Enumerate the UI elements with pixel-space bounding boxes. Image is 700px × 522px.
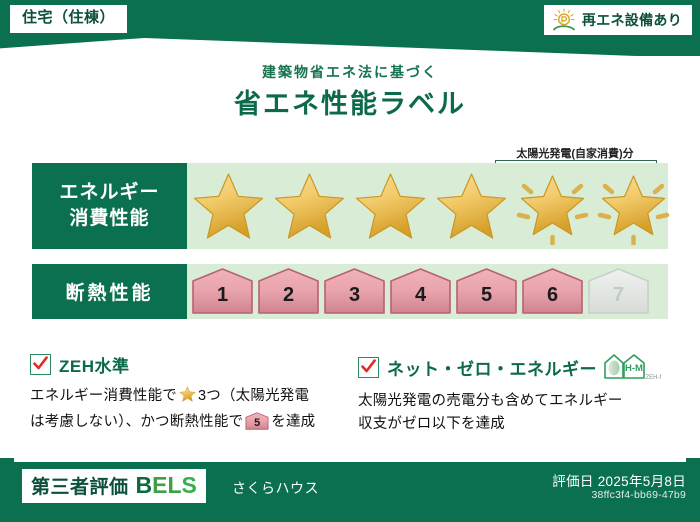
criterion-zeh-header: ZEH水準 (30, 352, 355, 377)
criterion-zeh: ZEH水準 エネルギー消費性能で3つ（太陽光発電 は考慮しない）、かつ断熱性能で… (30, 352, 355, 435)
star-icon-inline (178, 391, 197, 407)
criterion-net-zero-title: ネット・ゼロ・エネルギー (387, 355, 597, 380)
grade-badge-2: 2 (257, 267, 320, 315)
grade-number: 4 (389, 284, 452, 307)
zeh-body-part2: 3つ（太陽光発電 (198, 388, 309, 404)
energy-performance-row: エネルギー 消費性能 (32, 163, 668, 249)
net-zero-body-line1: 太陽光発電の売電分も含めてエネルギー (358, 393, 623, 409)
insulation-grade-scale: 1 2 3 4 (191, 267, 650, 315)
star-icon-solar (513, 167, 592, 245)
company-name: さくらハウス (232, 478, 319, 498)
star-icon (432, 167, 511, 245)
bels-letter-b: B (136, 472, 153, 498)
bels-logo: BELS (136, 472, 197, 499)
criterion-zeh-body: エネルギー消費性能で3つ（太陽光発電 は考慮しない）、かつ断熱性能で5を達成 (30, 385, 355, 435)
renewable-energy-badge: 再エネ設備あり (544, 5, 692, 35)
grade-number: 7 (587, 284, 650, 307)
star-icon (189, 167, 268, 245)
grade-number: 5 (455, 284, 518, 307)
insulation-grades-area: 1 2 3 4 (187, 264, 668, 319)
bels-letter-s: S (182, 472, 197, 498)
grade-number: 1 (191, 284, 254, 307)
grade-number: 3 (323, 284, 386, 307)
grade-badge-inline-5: 5 (245, 412, 269, 430)
grade-number: 2 (257, 284, 320, 307)
bels-letter-l: L (167, 472, 181, 498)
page-title: 省エネ性能ラベル (0, 82, 700, 121)
star-icon-solar (594, 167, 673, 245)
criterion-net-zero: ネット・ゼロ・エネルギー H-M 「ZEH-M」 太陽光発電の売電分も含めてエネ… (358, 352, 678, 437)
grade-number: 6 (521, 284, 584, 307)
grade-badge-7: 7 (587, 267, 650, 315)
grade-badge-1: 1 (191, 267, 254, 315)
criterion-zeh-title: ZEH水準 (59, 352, 130, 377)
energy-stars-area (187, 163, 668, 249)
grade-badge-5: 5 (455, 267, 518, 315)
grade-badge-6: 6 (521, 267, 584, 315)
energy-label-line1: エネルギー (59, 180, 159, 206)
zeh-body-part3: は考慮しない）、かつ断熱性能で (30, 414, 243, 430)
third-party-label: 第三者評価 (31, 472, 129, 499)
energy-performance-label: エネルギー 消費性能 (32, 163, 187, 249)
label-subtitle: 建築物省エネ法に基づく (0, 62, 700, 82)
zeh-m-logo: H-M 「ZEH-M」 (603, 352, 661, 382)
star-icon (351, 167, 430, 245)
grade-number: 5 (245, 415, 269, 433)
energy-label-line2: 消費性能 (69, 206, 149, 232)
svg-text:H-M: H-M (625, 363, 643, 374)
insulation-performance-row: 断熱性能 1 (32, 264, 668, 319)
building-type-tag: 住宅（住棟） (10, 5, 127, 33)
svg-text:「ZEH-M」: 「ZEH-M」 (640, 374, 662, 381)
insulation-performance-label: 断熱性能 (32, 264, 187, 319)
third-party-evaluation-badge: 第三者評価 BELS (22, 469, 206, 503)
criterion-net-zero-body: 太陽光発電の売電分も含めてエネルギー 収支がゼロ以下を達成 (358, 390, 678, 437)
certificate-id: 38ffc3f4-bb69-47b9 (592, 489, 686, 501)
grade-badge-3: 3 (323, 267, 386, 315)
zeh-body-part4: を達成 (271, 414, 315, 430)
net-zero-body-line2: 収支がゼロ以下を達成 (358, 416, 505, 432)
evaluation-date: 評価日 2025年5月8日 (552, 470, 686, 490)
zeh-body-part1: エネルギー消費性能で (30, 388, 177, 404)
grade-badge-4: 4 (389, 267, 452, 315)
star-rating (189, 163, 673, 249)
criterion-net-zero-header: ネット・ゼロ・エネルギー H-M 「ZEH-M」 (358, 352, 678, 382)
insulation-label-text: 断熱性能 (65, 278, 153, 305)
footer-divider (14, 452, 686, 462)
checkbox-checked-icon (358, 357, 379, 378)
checkbox-checked-icon (30, 354, 51, 375)
renewable-energy-label: 再エネ設備あり (582, 10, 682, 30)
solar-sun-icon (551, 8, 577, 32)
bels-energy-label: 住宅（住棟） 再エネ設備あり 建築物省エネ法に基づく 省エネ性能ラベル (0, 0, 700, 522)
solar-annotation-text: 太陽光発電(自家消費)分 (480, 145, 670, 161)
bels-letter-e: E (152, 472, 167, 498)
star-icon (270, 167, 349, 245)
